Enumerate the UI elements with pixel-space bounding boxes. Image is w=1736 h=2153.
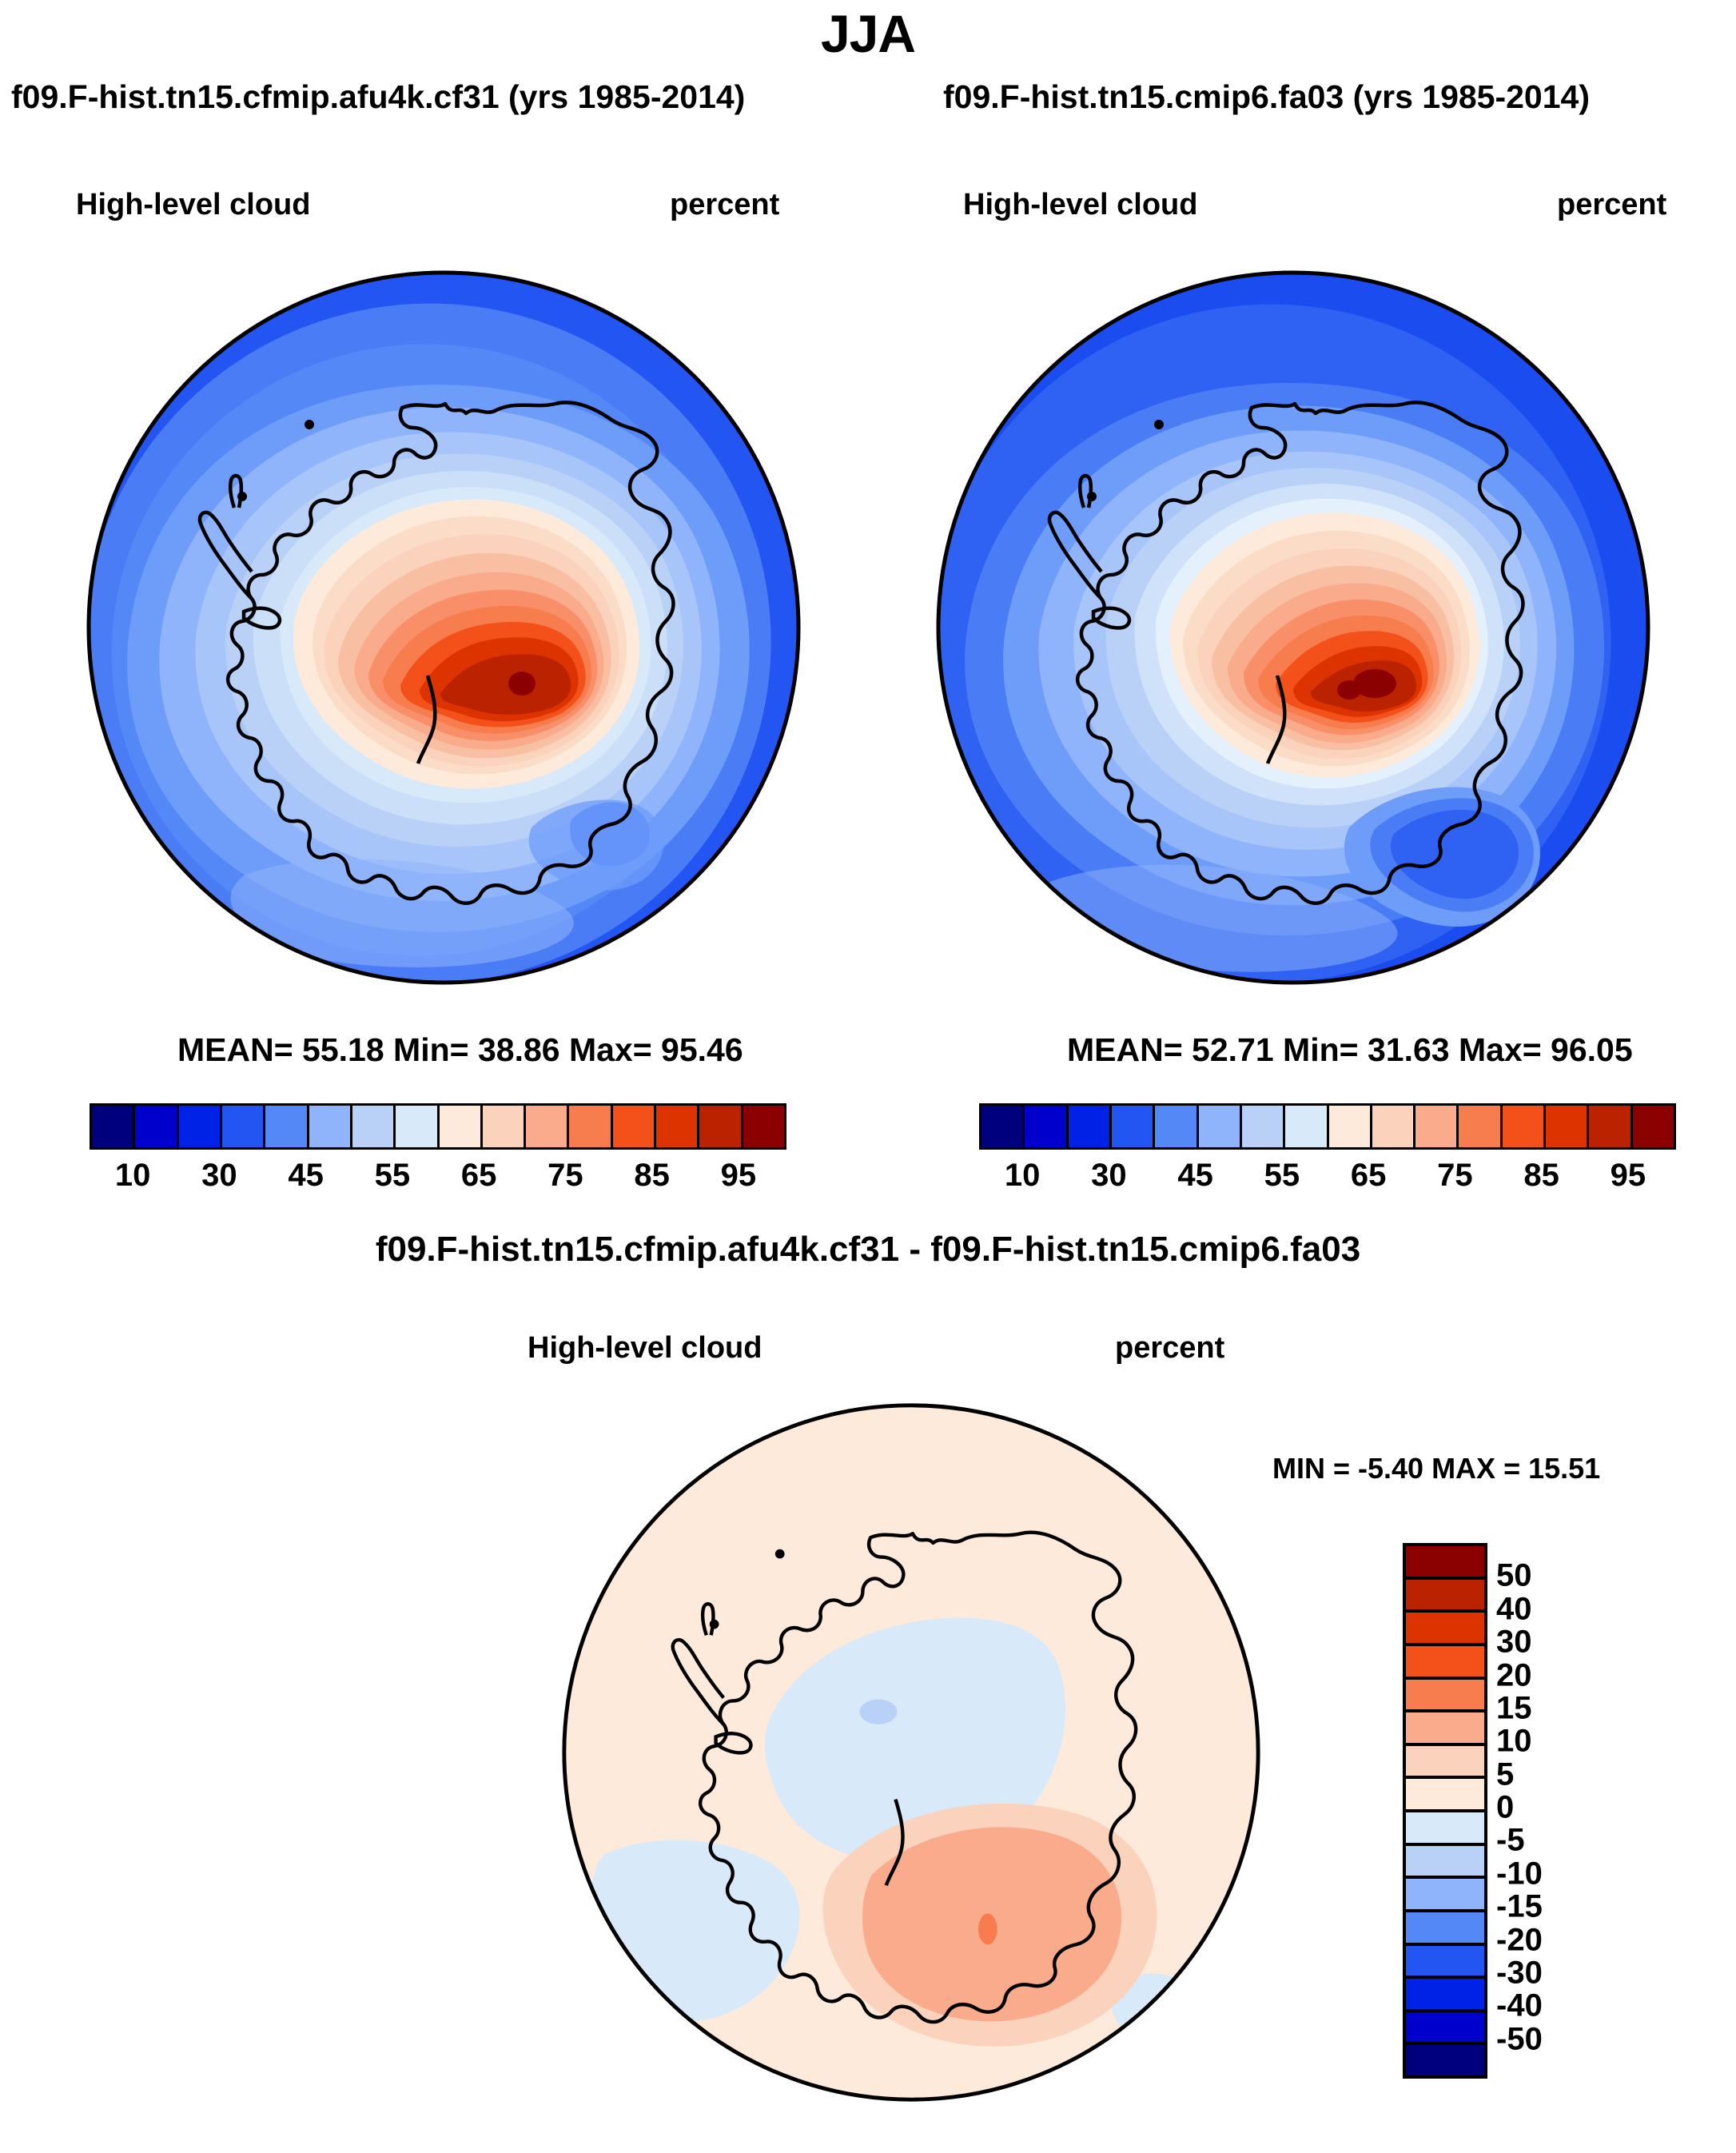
diff-panel-variable-label: High-level cloud [528, 1331, 762, 1366]
right-panel-stats: MEAN= 52.71 Min= 31.63 Max= 96.05 [1067, 1031, 1633, 1069]
colorbar-cell [1406, 1846, 1484, 1880]
colorbar-tick-label: 75 [547, 1158, 583, 1194]
colorbar-cell [1406, 1879, 1484, 1912]
colorbar-tick-label: 85 [1523, 1158, 1559, 1194]
colorbar-cell [743, 1106, 784, 1147]
colorbar-cell [1329, 1106, 1372, 1147]
colorbar-cell [569, 1106, 612, 1147]
colorbar-cell [1069, 1106, 1112, 1147]
diff-panel-units-label: percent [1115, 1331, 1224, 1366]
colorbar-cell [1406, 1812, 1484, 1846]
colorbar-cell [1546, 1106, 1589, 1147]
colorbar-cell [1155, 1106, 1198, 1147]
colorbar-right[interactable] [979, 1103, 1676, 1150]
colorbar-cell [1406, 1746, 1484, 1780]
colorbar-tick-label: 5 [1496, 1756, 1514, 1792]
colorbar-cell [1406, 1779, 1484, 1812]
colorbar-tick-label: -15 [1496, 1889, 1543, 1925]
colorbar-cell [699, 1106, 743, 1147]
colorbar-tick-label: 55 [1264, 1158, 1300, 1194]
colorbar-tick-label: 15 [1496, 1690, 1532, 1726]
colorbar-cell [1406, 1712, 1484, 1746]
colorbar-cell [1285, 1106, 1328, 1147]
colorbar-cell [526, 1106, 569, 1147]
colorbar-tick-label: 85 [634, 1158, 670, 1194]
colorbar-right-ticks: 1030455565758595 [979, 1158, 1676, 1206]
colorbar-cell [613, 1106, 656, 1147]
colorbar-tick-label: 30 [1091, 1158, 1127, 1194]
map-difference[interactable] [559, 1401, 1263, 2104]
colorbar-tick-label: 40 [1496, 1591, 1532, 1627]
colorbar-tick-label: 10 [1005, 1158, 1041, 1194]
colorbar-tick-label: -30 [1496, 1955, 1543, 1991]
colorbar-cell [135, 1106, 178, 1147]
colorbar-tick-label: 45 [288, 1158, 324, 1194]
colorbar-tick-label: 0 [1496, 1790, 1514, 1826]
left-panel-units-label: percent [670, 188, 779, 222]
colorbar-cell [92, 1106, 135, 1147]
colorbar-difference-ticks: 50403020151050-5-10-15-20-30-40-50 [1496, 1543, 1616, 2079]
colorbar-cell [1406, 1680, 1484, 1713]
left-panel-stats: MEAN= 55.18 Min= 38.86 Max= 95.46 [177, 1031, 743, 1069]
colorbar-cell [1415, 1106, 1459, 1147]
colorbar-cell [222, 1106, 265, 1147]
colorbar-cell [1406, 1946, 1484, 1980]
colorbar-cell [1633, 1106, 1674, 1147]
colorbar-tick-label: 30 [1496, 1625, 1532, 1661]
colorbar-cell [396, 1106, 439, 1147]
colorbar-cell [1406, 1546, 1484, 1580]
colorbar-tick-label: 55 [375, 1158, 411, 1194]
map-right-cmip6-fa03[interactable] [934, 268, 1653, 987]
colorbar-tick-label: -5 [1496, 1823, 1525, 1859]
colorbar-cell [352, 1106, 396, 1147]
colorbar-cell [179, 1106, 222, 1147]
colorbar-tick-label: 10 [115, 1158, 151, 1194]
colorbar-cell [1406, 1613, 1484, 1646]
case-title-left: f09.F-hist.tn15.cfmip.afu4k.cf31 (yrs 19… [11, 78, 745, 116]
colorbar-cell [309, 1106, 352, 1147]
page-title: JJA [0, 3, 1736, 64]
colorbar-tick-label: 95 [721, 1158, 757, 1194]
right-panel-variable-label: High-level cloud [963, 188, 1197, 222]
colorbar-tick-label: 50 [1496, 1558, 1532, 1594]
colorbar-tick-label: -20 [1496, 1922, 1543, 1958]
colorbar-cell [1406, 1979, 1484, 2012]
colorbar-cell [1406, 1580, 1484, 1613]
colorbar-tick-label: 20 [1496, 1657, 1532, 1693]
colorbar-tick-label: -50 [1496, 2021, 1543, 2057]
difference-title: f09.F-hist.tn15.cfmip.afu4k.cf31 - f09.F… [0, 1230, 1736, 1270]
colorbar-cell [1242, 1106, 1285, 1147]
colorbar-tick-label: -40 [1496, 1988, 1543, 2024]
colorbar-cell [1199, 1106, 1242, 1147]
colorbar-difference[interactable] [1403, 1543, 1487, 2079]
colorbar-tick-label: 10 [1496, 1724, 1532, 1760]
colorbar-cell [981, 1106, 1025, 1147]
colorbar-cell [483, 1106, 526, 1147]
colorbar-left-ticks: 1030455565758595 [90, 1158, 786, 1206]
colorbar-cell [1459, 1106, 1502, 1147]
colorbar-cell [1589, 1106, 1632, 1147]
colorbar-tick-label: 75 [1437, 1158, 1473, 1194]
colorbar-cell [1112, 1106, 1155, 1147]
colorbar-cell [265, 1106, 309, 1147]
colorbar-tick-label: 45 [1177, 1158, 1213, 1194]
colorbar-cell [440, 1106, 483, 1147]
colorbar-left[interactable] [90, 1103, 786, 1150]
case-title-right: f09.F-hist.tn15.cmip6.fa03 (yrs 1985-201… [943, 78, 1590, 116]
right-panel-units-label: percent [1557, 188, 1666, 222]
colorbar-cell [1025, 1106, 1068, 1147]
colorbar-cell [1503, 1106, 1546, 1147]
colorbar-tick-label: 95 [1611, 1158, 1646, 1194]
difference-minmax-label: MIN = -5.40 MAX = 15.51 [1272, 1452, 1600, 1485]
left-panel-variable-label: High-level cloud [76, 188, 310, 222]
colorbar-tick-label: 30 [201, 1158, 237, 1194]
colorbar-cell [1406, 2045, 1484, 2075]
colorbar-tick-label: 65 [1351, 1158, 1387, 1194]
colorbar-cell [656, 1106, 699, 1147]
colorbar-cell [1372, 1106, 1415, 1147]
colorbar-cell [1406, 1912, 1484, 1946]
colorbar-tick-label: -10 [1496, 1856, 1543, 1892]
colorbar-cell [1406, 2012, 1484, 2046]
colorbar-tick-label: 65 [461, 1158, 497, 1194]
map-left-cfmip-afu4k[interactable] [84, 268, 803, 987]
colorbar-cell [1406, 1646, 1484, 1680]
